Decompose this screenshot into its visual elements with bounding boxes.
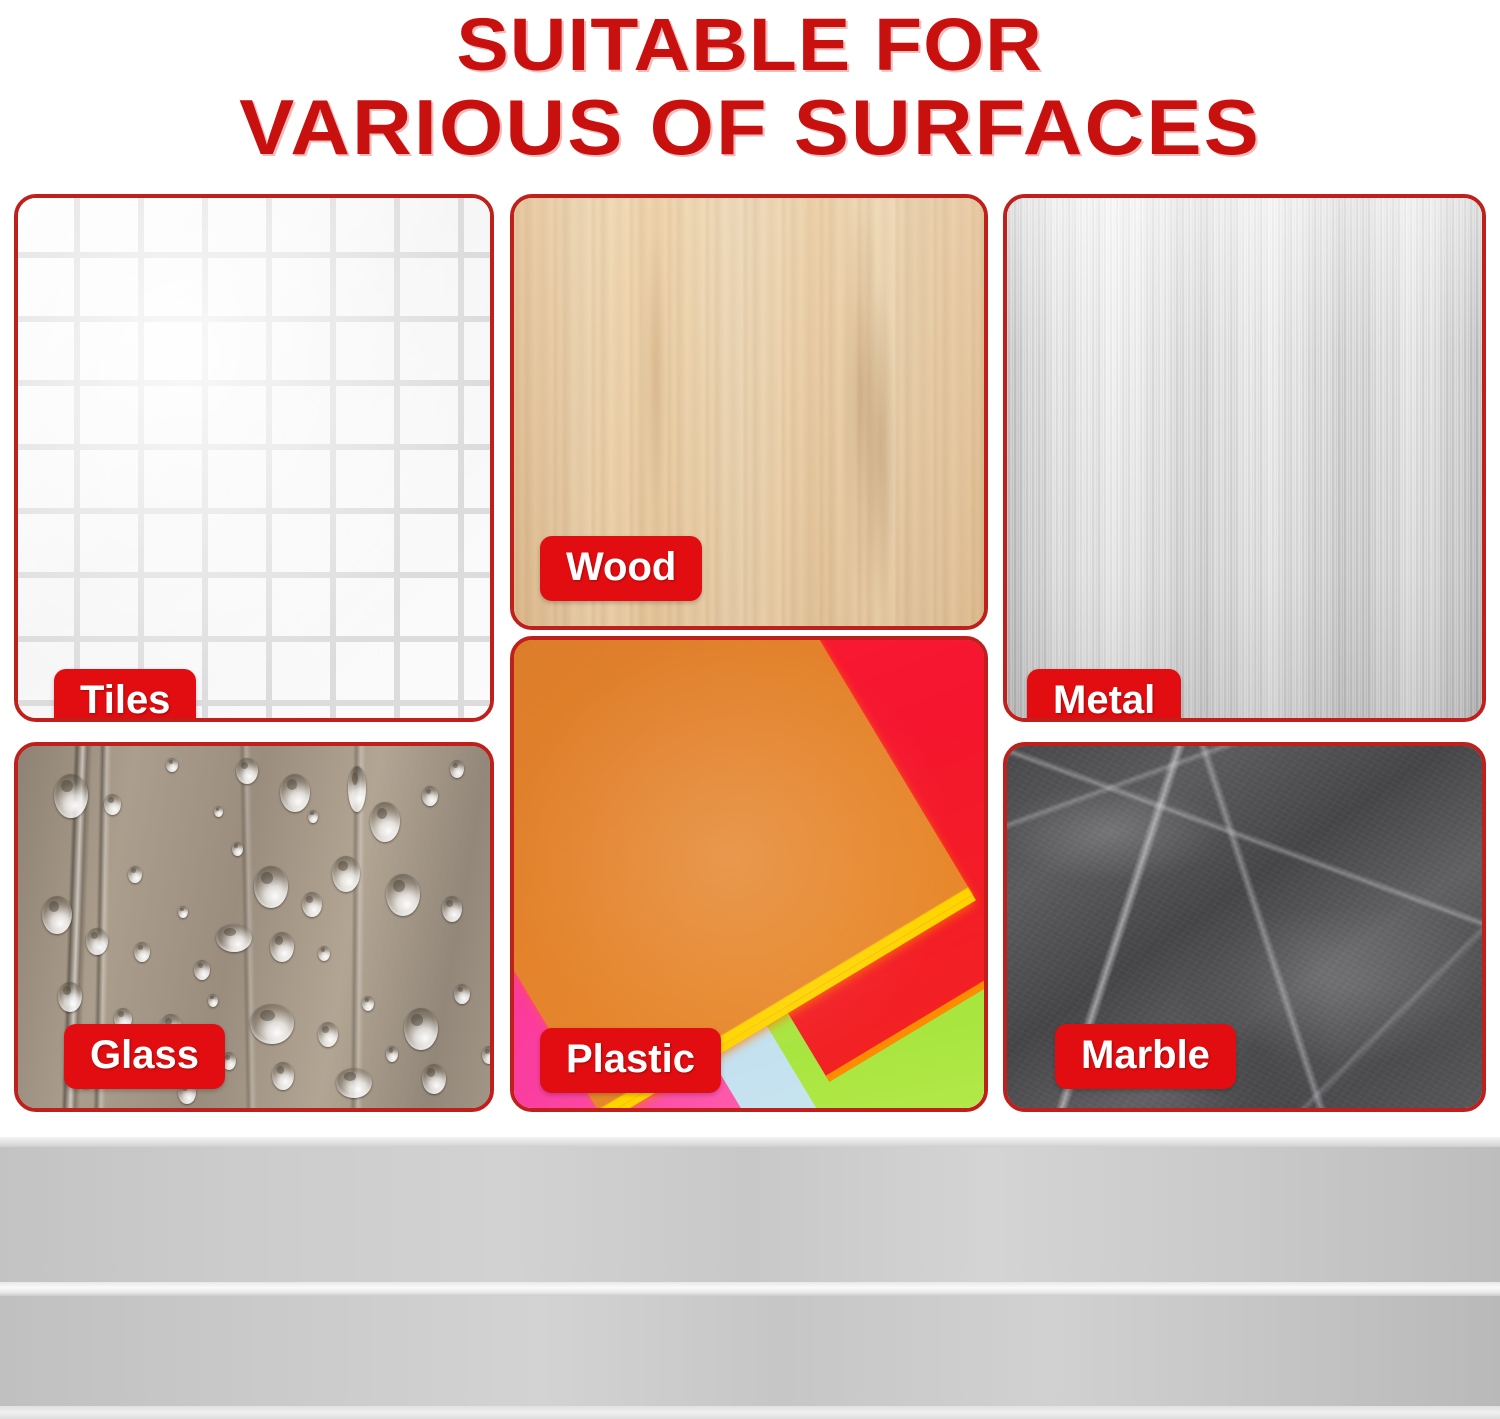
water-droplet: [280, 774, 310, 812]
wall-bottom-edge: [0, 1406, 1500, 1419]
water-droplet: [166, 758, 178, 772]
water-droplet: [386, 874, 420, 916]
water-droplet: [128, 866, 142, 883]
wall-top-edge: [0, 1137, 1500, 1147]
water-droplet: [236, 758, 258, 784]
surface-label-wood: Wood: [540, 536, 702, 601]
surface-panel-metal[interactable]: Metal: [1003, 194, 1486, 722]
water-droplet: [272, 1062, 294, 1090]
water-droplet: [54, 774, 88, 818]
surface-label-tiles: Tiles: [54, 669, 196, 722]
water-droplet: [208, 994, 218, 1007]
metal-texture: [1007, 198, 1482, 718]
water-droplet: [454, 984, 470, 1004]
water-droplet: [318, 946, 330, 961]
water-droplet: [134, 942, 150, 962]
water-droplet: [86, 928, 108, 955]
water-droplet: [336, 1068, 372, 1098]
water-droplet: [194, 960, 210, 980]
water-droplet: [362, 996, 374, 1011]
water-droplet: [58, 982, 82, 1012]
water-droplet: [232, 842, 243, 856]
water-droplet: [450, 760, 464, 778]
surface-panel-plastic[interactable]: Plastic: [510, 636, 988, 1112]
title-line-2: VARIOUS OF SURFACES: [239, 86, 1261, 168]
surface-panel-tiles[interactable]: Tiles: [14, 194, 494, 722]
water-droplet: [348, 766, 366, 812]
surface-label-glass: Glass: [64, 1024, 225, 1089]
bottom-wall-strip: [0, 1137, 1500, 1419]
water-droplet: [104, 794, 121, 815]
water-droplet: [250, 1004, 294, 1044]
water-droplet: [308, 810, 318, 823]
water-droplet: [404, 1008, 438, 1050]
water-droplet: [370, 802, 400, 842]
water-droplet: [422, 786, 438, 806]
tiles-texture: [18, 198, 490, 718]
water-droplet: [214, 806, 223, 817]
title-line-1: SUITABLE FOR: [457, 4, 1043, 86]
water-droplet: [216, 924, 252, 952]
water-droplet: [42, 896, 72, 934]
water-droplet: [482, 1046, 494, 1064]
water-droplet: [386, 1046, 398, 1062]
wall-band-lower: [0, 1296, 1500, 1406]
surface-panel-grid: Tiles Wood Metal Plastic Glass: [0, 178, 1500, 1128]
wall-band-seam: [0, 1282, 1500, 1296]
surface-label-plastic: Plastic: [540, 1028, 721, 1093]
surface-label-marble: Marble: [1055, 1024, 1236, 1089]
surface-panel-wood[interactable]: Wood: [510, 194, 988, 630]
water-droplet: [442, 896, 462, 922]
water-droplet: [178, 906, 188, 918]
water-droplet: [332, 856, 360, 892]
page-title: SUITABLE FOR VARIOUS OF SURFACES: [0, 0, 1500, 178]
wall-band-upper: [0, 1147, 1500, 1282]
water-droplet: [422, 1064, 446, 1094]
surface-panel-marble[interactable]: Marble: [1003, 742, 1486, 1112]
water-droplet: [318, 1022, 338, 1047]
surface-panel-glass[interactable]: Glass: [14, 742, 494, 1112]
water-droplet: [254, 866, 288, 908]
water-droplet: [302, 892, 322, 917]
surface-label-metal: Metal: [1027, 669, 1181, 722]
water-droplet: [270, 932, 294, 962]
